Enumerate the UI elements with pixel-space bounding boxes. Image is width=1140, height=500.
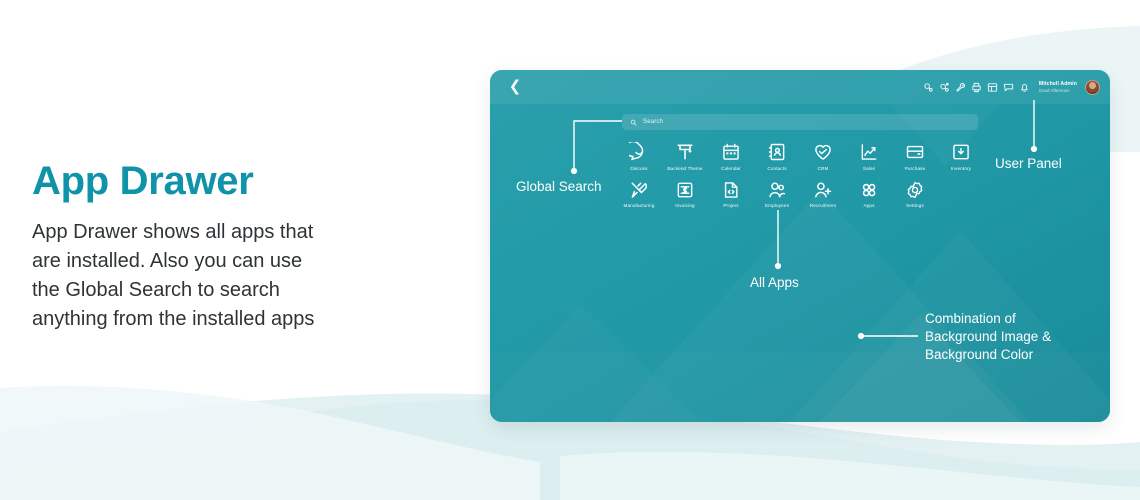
crm-icon xyxy=(813,142,833,162)
print-icon[interactable] xyxy=(971,82,982,93)
annotation-user-panel: User Panel xyxy=(995,155,1062,173)
app-label: Sales xyxy=(863,166,875,171)
app-label: Settings xyxy=(906,203,924,208)
app-tile-contacts[interactable]: Contacts xyxy=(754,142,800,171)
discuss-icon xyxy=(629,142,649,162)
app-grid: Discuss Backend Theme Calendar Contacts … xyxy=(616,142,984,208)
settings-icon xyxy=(905,180,925,200)
app-label: Calendar xyxy=(721,166,741,171)
app-label: Inventory xyxy=(951,166,971,171)
grid-icon[interactable] xyxy=(987,82,998,93)
app-tile-project[interactable]: Project xyxy=(708,180,754,209)
recruitment-icon xyxy=(813,180,833,200)
user-name: Mitchell Admin xyxy=(1039,82,1077,87)
app-label: Invoicing xyxy=(675,203,694,208)
app-tile-settings[interactable]: Settings xyxy=(892,180,938,209)
search-input[interactable]: Search xyxy=(622,114,978,130)
page-title: App Drawer xyxy=(32,160,432,202)
bell-icon[interactable] xyxy=(1019,82,1030,93)
app-tile-sales[interactable]: Sales xyxy=(846,142,892,171)
app-label: Backend Theme xyxy=(667,166,702,171)
calendar-icon xyxy=(721,142,741,162)
purchase-icon xyxy=(905,142,925,162)
app-tile-apps[interactable]: Apps xyxy=(846,180,892,209)
annotation-all-apps: All Apps xyxy=(750,274,799,292)
apps-icon xyxy=(859,180,879,200)
user-identity[interactable]: Mitchell Admin Good Afternoon xyxy=(1039,82,1077,93)
manufacturing-icon xyxy=(629,180,649,200)
wrench-icon[interactable] xyxy=(955,82,966,93)
search-placeholder: Search xyxy=(643,119,663,125)
activity-icon[interactable] xyxy=(939,82,950,93)
chevron-left-icon[interactable]: ❮ xyxy=(507,78,523,96)
search-icon xyxy=(630,119,637,126)
app-tile-inventory[interactable]: Inventory xyxy=(938,142,984,171)
app-tile-employees[interactable]: Employees xyxy=(754,180,800,209)
annotation-global-search: Global Search xyxy=(516,178,602,196)
invoicing-icon xyxy=(675,180,695,200)
contacts-icon xyxy=(767,142,787,162)
app-drawer-panel: ❮ Mitchell Admin Good Afternoon Search D… xyxy=(490,70,1110,422)
app-label: Purchase xyxy=(905,166,926,171)
project-icon xyxy=(721,180,741,200)
avatar[interactable] xyxy=(1085,80,1100,95)
app-tile-purchase[interactable]: Purchase xyxy=(892,142,938,171)
employees-icon xyxy=(767,180,787,200)
user-greeting: Good Afternoon xyxy=(1039,89,1077,93)
app-label: Employees xyxy=(765,203,789,208)
page-description: App Drawer shows all apps that are insta… xyxy=(32,218,432,334)
backend-theme-icon xyxy=(675,142,695,162)
app-label: Project xyxy=(723,203,738,208)
app-label: Discuss xyxy=(630,166,647,171)
annotation-background: Combination of Background Image & Backgr… xyxy=(925,310,1051,363)
app-label: Recruitment xyxy=(810,203,836,208)
bug-icon[interactable] xyxy=(923,82,934,93)
app-tile-calendar[interactable]: Calendar xyxy=(708,142,754,171)
app-tile-manufacturing[interactable]: Manufacturing xyxy=(616,180,662,209)
sales-icon xyxy=(859,142,879,162)
app-label: Apps xyxy=(863,203,874,208)
messages-icon[interactable] xyxy=(1003,82,1014,93)
app-label: Contacts xyxy=(767,166,786,171)
inventory-icon xyxy=(951,142,971,162)
user-panel[interactable]: Mitchell Admin Good Afternoon xyxy=(923,77,1100,98)
app-tile-crm[interactable]: CRM xyxy=(800,142,846,171)
app-label: CRM xyxy=(818,166,829,171)
app-tile-invoicing[interactable]: Invoicing xyxy=(662,180,708,209)
app-tile-discuss[interactable]: Discuss xyxy=(616,142,662,171)
intro-text-block: App Drawer App Drawer shows all apps tha… xyxy=(32,160,432,334)
app-tile-recruitment[interactable]: Recruitment xyxy=(800,180,846,209)
app-tile-backend-theme[interactable]: Backend Theme xyxy=(662,142,708,171)
app-label: Manufacturing xyxy=(623,203,654,208)
